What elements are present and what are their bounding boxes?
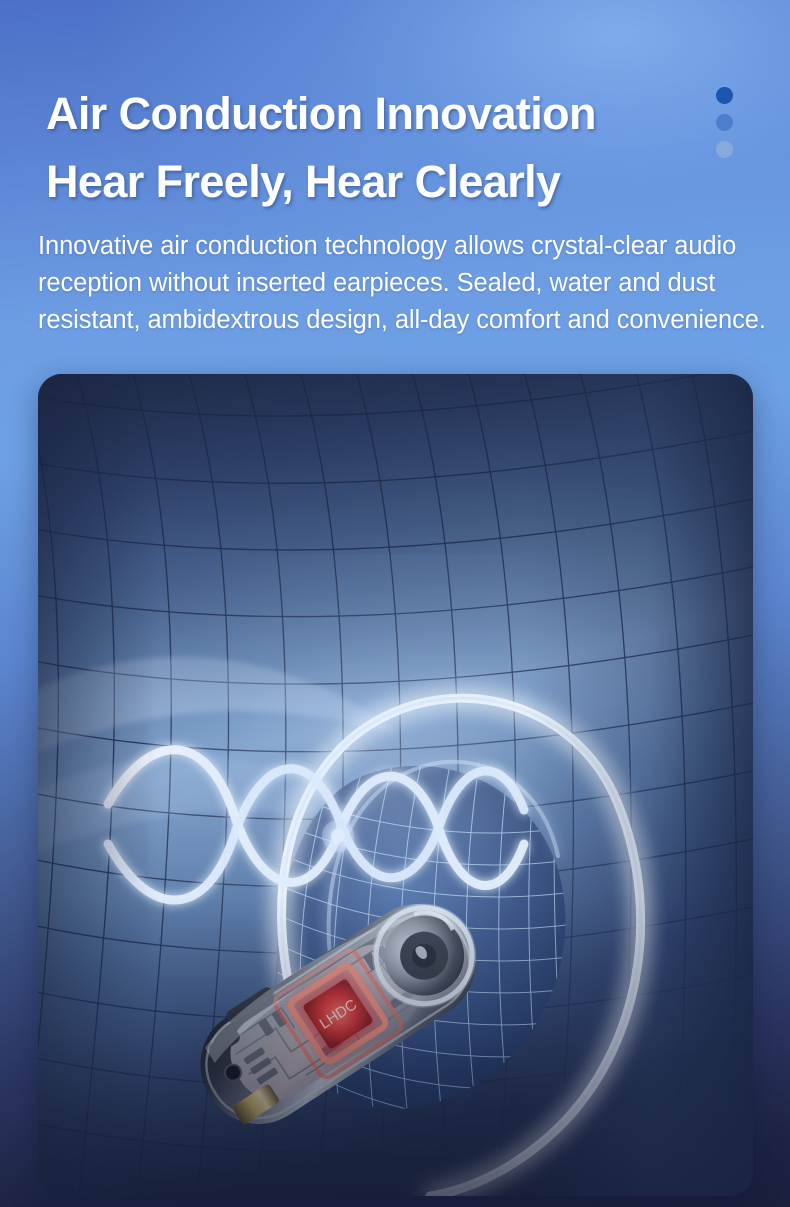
dot-active-icon[interactable] — [716, 87, 733, 104]
headline-block: Air Conduction Innovation Hear Freely, H… — [46, 80, 706, 216]
headline-line-1: Air Conduction Innovation — [46, 80, 706, 148]
headline-line-2: Hear Freely, Hear Clearly — [46, 148, 706, 216]
specular-flare — [322, 820, 354, 852]
dot-secondary-icon[interactable] — [716, 114, 733, 131]
hero-image-panel: LHDC — [38, 374, 753, 1196]
indicator-dots[interactable] — [715, 87, 733, 158]
feature-description: Innovative air conduction technology all… — [38, 228, 768, 339]
wireframe-ear-illustration: LHDC — [38, 374, 753, 1196]
product-feature-page: Air Conduction Innovation Hear Freely, H… — [0, 0, 790, 1207]
dot-tertiary-icon[interactable] — [716, 141, 733, 158]
